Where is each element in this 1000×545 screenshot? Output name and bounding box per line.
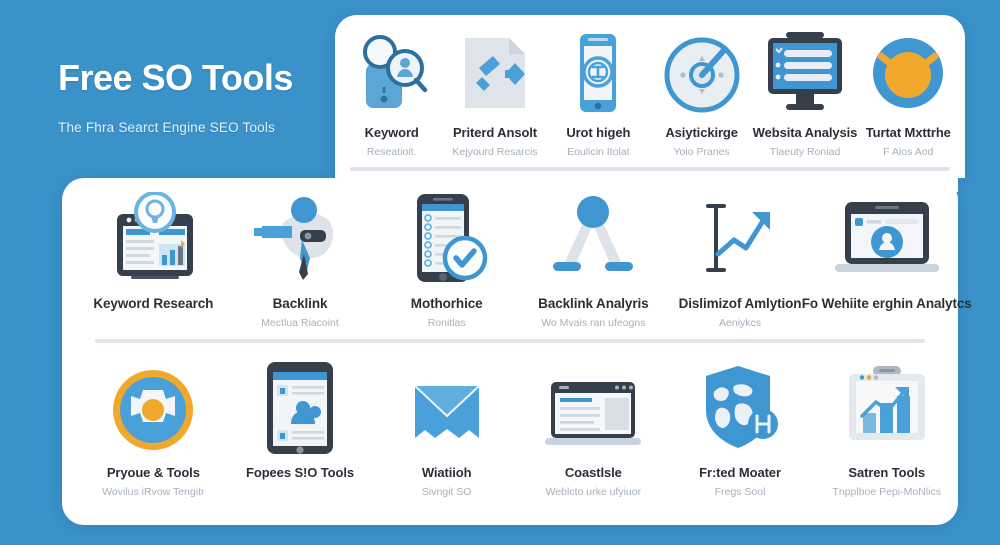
tile-sublabel: Wovilus iRvow Tengitr: [102, 486, 204, 499]
tool-tile-satren-tools[interactable]: Satren Tools Tnpplboe Pepi-MoNlics: [813, 360, 960, 499]
tile-label: Turtat Mxttrhe: [866, 126, 951, 141]
bar-growth-icon: [835, 360, 939, 456]
tile-sublabel: Sivngit SO: [422, 486, 472, 499]
tile-label: Priterd Ansolt: [453, 126, 537, 141]
shield-globe-icon: [694, 360, 786, 456]
page-subtitle: The Fhra Searct Engine SEO Tools: [58, 120, 340, 135]
tile-label: Fo Wehiite erghin Analytcs: [802, 296, 972, 312]
tool-tile-backlink-analyris[interactable]: Backlink Analyris Wo Mvais ran ufeogns: [520, 190, 667, 329]
hero-block: Free SO Tools The Fhra Searct Engine SEO…: [0, 0, 340, 210]
tile-label: Satren Tools: [848, 466, 925, 481]
browser-page-icon: [533, 360, 653, 456]
document-arrow-icon: [449, 24, 541, 116]
tile-sublabel: Tlaeuty Roniad: [770, 146, 841, 159]
tile-label: Backlink Analyris: [538, 296, 648, 312]
tool-tile-frted-moater[interactable]: Fr:ted Moater Fregs Sool: [667, 360, 814, 499]
tile-label: Websita Analysis: [753, 126, 858, 141]
tile-sublabel: Reseatioit.: [367, 146, 417, 159]
tile-label: Backlink: [273, 296, 328, 312]
divider-middle: [95, 339, 925, 343]
tool-tile-urot-higeh[interactable]: Urot higeh Eoulicin Itolat: [547, 24, 650, 159]
tile-sublabel: Aeniykcs: [719, 317, 761, 330]
trend-chart-icon: [692, 190, 788, 286]
tile-label: Urot higeh: [566, 126, 630, 141]
envelope-icon: [401, 360, 493, 456]
tool-tile-priterd-ansolt[interactable]: Priterd Ansolt Kejyourd Resarcis: [443, 24, 546, 159]
tile-label: Keyword Research: [93, 296, 213, 312]
tile-label: Asiytickirge: [665, 126, 738, 141]
tool-tile-backlink[interactable]: Backlink Mectlua Riacoint: [227, 190, 374, 329]
laptop-analytics-icon: [825, 190, 949, 286]
tool-tile-wiatiioh[interactable]: Wiatiioh Sivngit SO: [373, 360, 520, 499]
tile-label: Coastlsle: [565, 466, 622, 481]
tile-sublabel: Fregs Sool: [715, 486, 766, 499]
mobile-check-icon: [403, 190, 491, 286]
tile-sublabel: Weblcto urke ufyiuor: [546, 486, 642, 499]
tool-tile-mothorhice[interactable]: Mothorhice Ronitlas: [373, 190, 520, 329]
tablet-content-icon: [257, 360, 343, 456]
page-title: Free SO Tools: [58, 58, 340, 98]
tile-sublabel: F Aios Aod: [883, 146, 933, 159]
clock-orange-icon: [867, 24, 949, 116]
tool-row-2: Keyword Research Backlink Mectlua Riacoi…: [80, 190, 960, 329]
tool-tile-website-analytics[interactable]: Fo Wehiite erghin Analytcs: [813, 190, 960, 329]
network-node-icon: [541, 190, 645, 286]
tool-tile-turtat-mxttrhe[interactable]: Turtat Mxttrhe F Aios Aod: [857, 24, 960, 159]
divider-top: [350, 167, 950, 171]
tile-sublabel: Ronitlas: [428, 317, 466, 330]
tile-label: Wiatiioh: [422, 466, 472, 481]
tile-label: Keyword: [365, 126, 419, 141]
magnifier-keyword-icon: [353, 24, 431, 116]
tool-tile-website-analysis[interactable]: Websita Analysis Tlaeuty Roniad: [753, 24, 856, 159]
tile-sublabel: Kejyourd Resarcis: [452, 146, 537, 159]
tool-tile-fopees-seo-tools[interactable]: Fopees S!O Tools: [227, 360, 374, 499]
gear-circle-icon: [105, 360, 201, 456]
tile-label: Fr:ted Moater: [699, 466, 781, 481]
tile-label: Fopees S!O Tools: [246, 466, 354, 481]
tile-sublabel: Tnpplboe Pepi-MoNlics: [832, 486, 941, 499]
tool-tile-coastlsle[interactable]: Coastlsle Weblcto urke ufyiuor: [520, 360, 667, 499]
tile-sublabel: Yoio Pranes: [674, 146, 730, 159]
tool-row-3: Pryoue & Tools Wovilus iRvow Tengitr: [80, 360, 960, 499]
speedometer-icon: [659, 24, 745, 116]
tool-tile-pryoue-tools[interactable]: Pryoue & Tools Wovilus iRvow Tengitr: [80, 360, 227, 499]
tool-tile-keyword[interactable]: Keyword Reseatioit.: [340, 24, 443, 159]
tile-label: Mothorhice: [411, 296, 483, 312]
tile-label: Dislimizof Amlytion: [679, 296, 802, 312]
tile-sublabel: Eoulicin Itolat: [567, 146, 629, 159]
tile-sublabel: Wo Mvais ran ufeogns: [541, 317, 645, 330]
tool-tile-keyword-research[interactable]: Keyword Research: [80, 190, 227, 329]
tile-label: Pryoue & Tools: [107, 466, 200, 481]
tool-row-1: Keyword Reseatioit. Priterd Ansolt Kejyo…: [340, 24, 960, 159]
tile-sublabel: Mectlua Riacoint: [261, 317, 339, 330]
panel-seam: [335, 170, 958, 192]
tool-tile-dislimizof-amlytion[interactable]: Dislimizof Amlytion Aeniykcs: [667, 190, 814, 329]
monitor-list-icon: [758, 24, 852, 116]
tool-tile-asiytickirge[interactable]: Asiytickirge Yoio Pranes: [650, 24, 753, 159]
mobile-badge-icon: [570, 24, 626, 116]
